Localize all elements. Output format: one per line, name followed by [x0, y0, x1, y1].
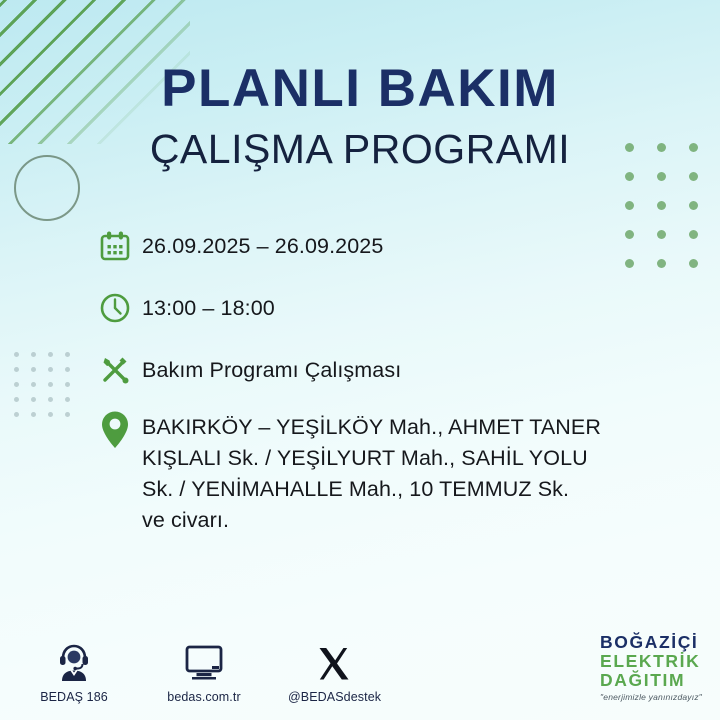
page-title: PLANLI BAKIM	[0, 62, 720, 115]
brand-line-elektrik: ELEKTRİK	[600, 652, 702, 671]
footer-link-label: BEDAŞ 186	[28, 690, 120, 704]
clock-icon	[98, 286, 142, 330]
brand-logo: BOĞAZİÇİ ELEKTRİK DAĞITIM "enerjimizle y…	[600, 633, 702, 702]
page-subtitle: ÇALIŞMA PROGRAMI	[0, 129, 720, 170]
headset-operator-icon	[28, 638, 120, 682]
footer-link-website[interactable]: bedas.com.tr	[158, 638, 250, 704]
x-twitter-icon	[288, 638, 380, 682]
detail-row-address: BAKIRKÖY – YEŞİLKÖY Mah., AHMET TANER KI…	[98, 408, 638, 536]
poster-canvas: PLANLI BAKIM ÇALIŞMA PROGRAMI 26.09.2025…	[0, 0, 720, 720]
address-line: KIŞLALI Sk. / YEŞİLYURT Mah., SAHİL YOLU	[142, 443, 601, 474]
calendar-icon	[98, 224, 142, 268]
detail-row-work-type: Bakım Programı Çalışması	[98, 348, 638, 392]
footer-link-label: @BEDASdestek	[288, 690, 380, 704]
detail-time-value: 13:00 – 18:00	[142, 286, 275, 324]
location-pin-icon	[98, 408, 142, 452]
brand-line-dagitim: DAĞITIM	[600, 671, 702, 690]
address-line: ve civarı.	[142, 505, 601, 536]
footer-link-call-center[interactable]: BEDAŞ 186	[28, 638, 120, 704]
footer-link-x-social[interactable]: @BEDASdestek	[288, 638, 380, 704]
brand-line-bogazici: BOĞAZİÇİ	[600, 633, 702, 652]
detail-work-type-value: Bakım Programı Çalışması	[142, 348, 401, 386]
tools-icon	[98, 348, 142, 392]
outage-details-list: 26.09.2025 – 26.09.2025 13:00 – 18:00	[98, 224, 638, 554]
address-line: BAKIRKÖY – YEŞİLKÖY Mah., AHMET TANER	[142, 412, 601, 443]
footer-contact-links: BEDAŞ 186 bedas.com.tr @BEDASdestek	[28, 638, 380, 704]
detail-date-value: 26.09.2025 – 26.09.2025	[142, 224, 383, 262]
footer-link-label: bedas.com.tr	[158, 690, 250, 704]
detail-row-date: 26.09.2025 – 26.09.2025	[98, 224, 638, 268]
detail-address-value: BAKIRKÖY – YEŞİLKÖY Mah., AHMET TANER KI…	[142, 408, 601, 536]
detail-row-time: 13:00 – 18:00	[98, 286, 638, 330]
page-title-block: PLANLI BAKIM ÇALIŞMA PROGRAMI	[0, 62, 720, 170]
monitor-icon	[158, 638, 250, 682]
brand-tagline: "enerjimizle yanınızdayız"	[600, 693, 702, 702]
dot-grid-left-decoration	[14, 352, 82, 427]
address-line: Sk. / YENİMAHALLE Mah., 10 TEMMUZ Sk.	[142, 474, 601, 505]
